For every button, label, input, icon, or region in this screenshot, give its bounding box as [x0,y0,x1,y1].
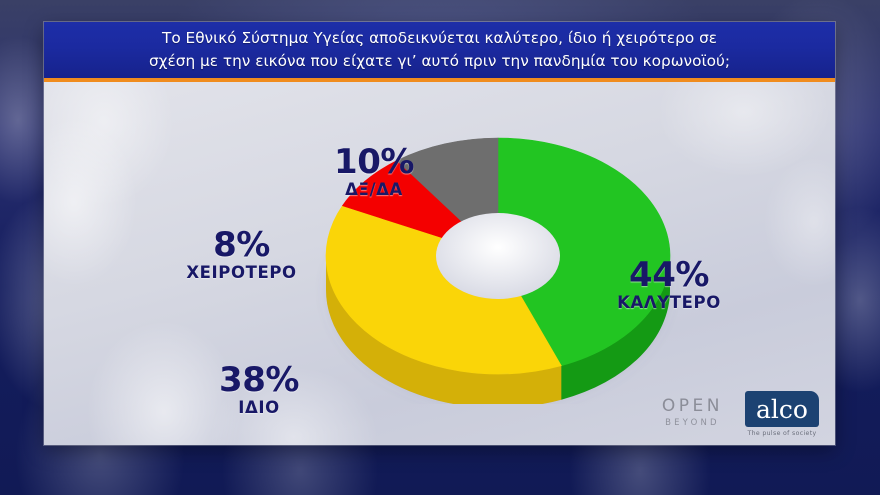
callout-xeirotero: 8% ΧΕΙΡΟΤΕΡΟ [144,227,339,283]
logo-row: OPEN BEYOND alco The pulse of society [662,391,819,437]
callout-percent: 10% [274,144,474,180]
open-beyond-wordmark: OPEN [662,398,723,415]
alco-wordmark: alco [756,397,808,422]
panel-body: 44% ΚΑΛΥΤΕΡΟ 38% ΙΔΙΟ 8% ΧΕΙΡΟΤΕΡΟ 10% Δ… [44,82,835,445]
callout-percent: 38% [164,362,354,398]
callout-label: ΔΞ/ΔΑ [274,180,474,200]
page-title: Το Εθνικό Σύστημα Υγείας αποδεικνύεται κ… [149,27,730,73]
callout-percent: 44% [564,257,774,293]
callout-idio: 38% ΙΔΙΟ [164,362,354,418]
panel-header: Το Εθνικό Σύστημα Υγείας αποδεικνύεται κ… [44,22,835,78]
callout-percent: 8% [144,227,339,263]
callout-label: ΚΑΛΥΤΕΡΟ [564,293,774,313]
callout-label: ΧΕΙΡΟΤΕΡΟ [144,263,339,283]
open-beyond-logo: OPEN BEYOND [662,398,723,430]
callout-kalytero: 44% ΚΑΛΥΤΕΡΟ [564,257,774,313]
callout-label: ΙΔΙΟ [164,398,354,418]
result-panel: Το Εθνικό Σύστημα Υγείας αποδεικνύεται κ… [44,22,835,445]
alco-tagline: The pulse of society [748,430,817,437]
donut-chart [302,94,692,404]
alco-logo: alco [745,391,819,427]
donut-center-hole [436,213,560,299]
open-beyond-subtitle: BEYOND [662,419,723,428]
callout-dxda: 10% ΔΞ/ΔΑ [274,144,474,200]
alco-logo-block: alco The pulse of society [745,391,819,437]
donut-chart-svg [302,94,692,404]
